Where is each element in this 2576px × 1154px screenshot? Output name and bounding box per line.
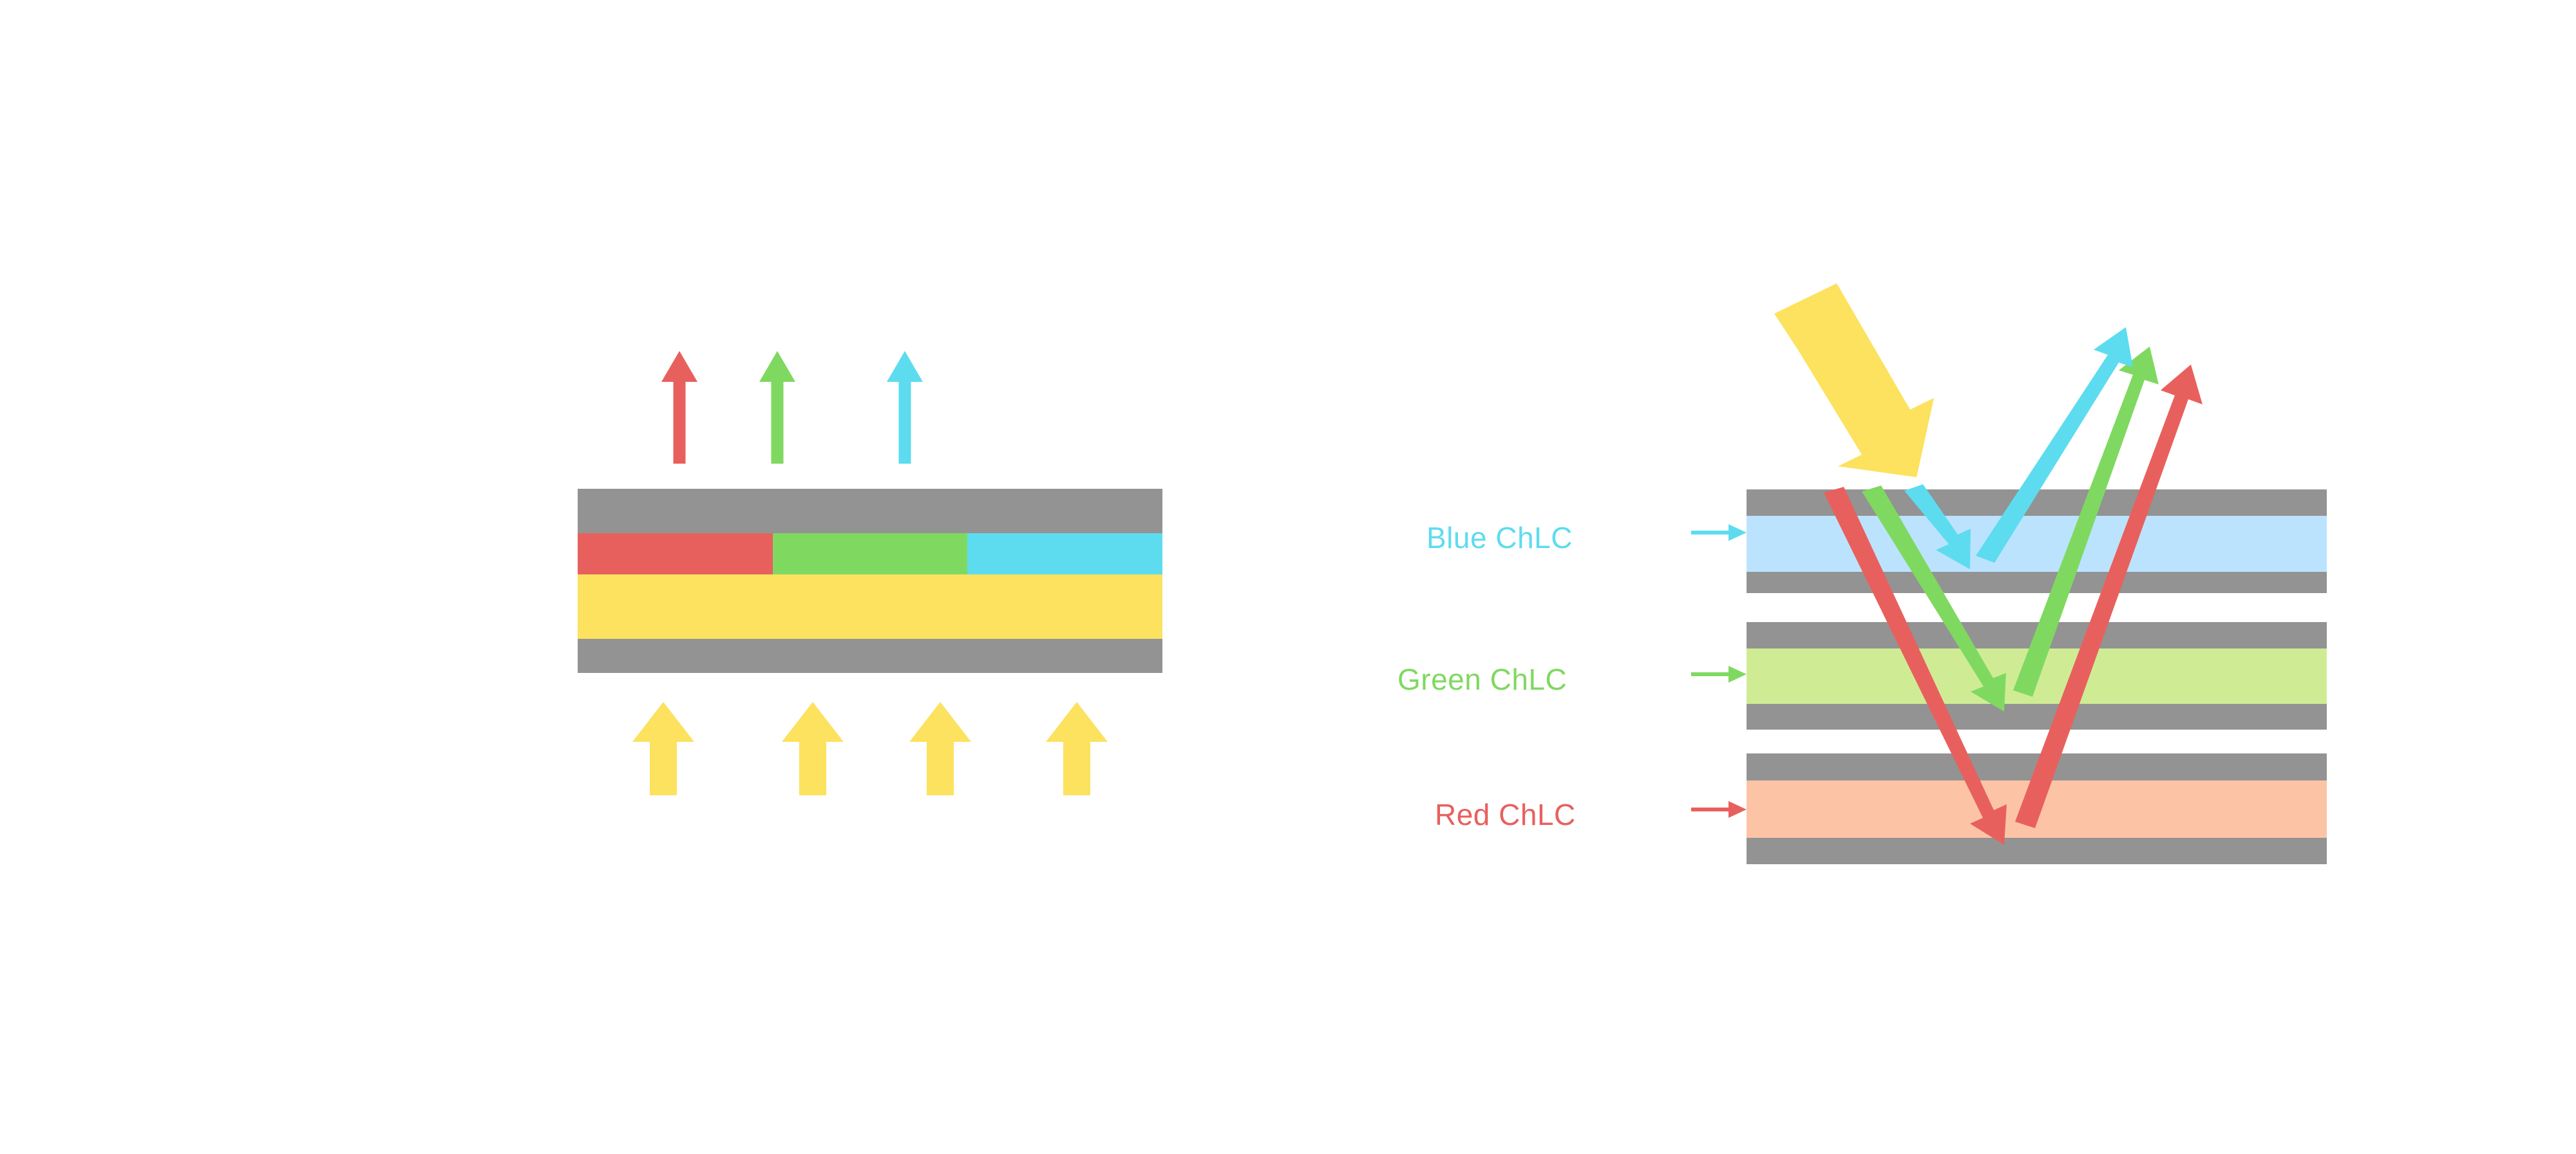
red-chlc-label: Red ChLC xyxy=(1435,797,1576,832)
blue-label-pointer-icon xyxy=(1691,524,1747,541)
blue-cell-bottom-electrode xyxy=(1747,572,2327,593)
blue-chlc-label: Blue ChLC xyxy=(1426,520,1573,555)
green-cell-bottom-electrode xyxy=(1747,704,2327,730)
right-panel-graphics xyxy=(0,0,2576,1154)
red-label-pointer-icon xyxy=(1691,801,1747,818)
red-cell-bottom-electrode xyxy=(1747,838,2327,864)
diagram-canvas: Blue ChLC Green ChLC Red ChLC xyxy=(0,0,2576,1154)
green-label-pointer-icon xyxy=(1691,666,1747,683)
incident-white-light-arrow xyxy=(1774,283,1934,477)
blue-chlc-medium xyxy=(1747,516,2327,572)
green-chlc-label: Green ChLC xyxy=(1397,662,1567,697)
